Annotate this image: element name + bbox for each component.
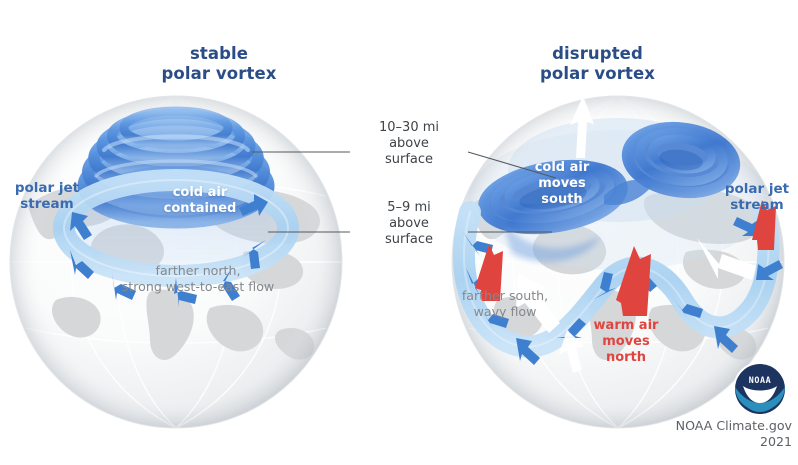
callout-troposphere-altitude: 5–9 mi above surface bbox=[352, 200, 466, 248]
label-warm-air-moves-north-line1: warm air bbox=[576, 318, 676, 334]
label-cold-air-moves-south-line1: cold air bbox=[512, 160, 612, 176]
label-cold-air-contained-line2: contained bbox=[141, 201, 259, 217]
label-flow-disrupted: farther south, wavy flow bbox=[444, 288, 566, 319]
label-cold-air-contained: cold air contained bbox=[141, 185, 259, 217]
label-warm-air-moves-north: warm air moves north bbox=[576, 318, 676, 366]
label-cold-air-contained-line1: cold air bbox=[141, 185, 259, 201]
panel-title-stable: stable polar vortex bbox=[104, 44, 334, 84]
label-flow-stable-line2: strong west-to-east flow bbox=[118, 279, 278, 295]
callout-stratosphere-line1: 10–30 mi bbox=[352, 120, 466, 136]
callout-stratosphere-altitude: 10–30 mi above surface bbox=[352, 120, 466, 168]
callout-troposphere-line1: 5–9 mi bbox=[352, 200, 466, 216]
label-flow-stable-line1: farther north, bbox=[118, 263, 278, 279]
panel-title-stable-line2: polar vortex bbox=[104, 64, 334, 84]
callout-troposphere-line2: above bbox=[352, 216, 466, 232]
label-polar-jet-stream-right-line2: stream bbox=[716, 197, 798, 213]
label-cold-air-moves-south-line2: moves bbox=[512, 176, 612, 192]
label-polar-jet-stream-left-line2: stream bbox=[2, 196, 92, 212]
panel-title-disrupted: disrupted polar vortex bbox=[470, 44, 725, 84]
label-cold-air-moves-south-line3: south bbox=[512, 192, 612, 208]
noaa-logo: NOAA bbox=[733, 362, 787, 416]
credit-year: 2021 bbox=[640, 434, 792, 450]
callout-stratosphere-line3: surface bbox=[352, 152, 466, 168]
credit-source: NOAA Climate.gov bbox=[640, 418, 792, 434]
label-flow-disrupted-line2: wavy flow bbox=[444, 304, 566, 320]
label-polar-jet-stream-right: polar jet stream bbox=[716, 181, 798, 213]
label-polar-jet-stream-right-line1: polar jet bbox=[716, 181, 798, 197]
label-warm-air-moves-north-line3: north bbox=[576, 350, 676, 366]
panel-title-stable-line1: stable bbox=[104, 44, 334, 64]
infographic-canvas: NOAA stable polar vortex disrupted polar… bbox=[0, 0, 798, 465]
panel-title-disrupted-line1: disrupted bbox=[470, 44, 725, 64]
label-cold-air-moves-south: cold air moves south bbox=[512, 160, 612, 208]
noaa-logo-text: NOAA bbox=[749, 375, 772, 385]
callout-stratosphere-line2: above bbox=[352, 136, 466, 152]
label-warm-air-moves-north-line2: moves bbox=[576, 334, 676, 350]
panel-title-disrupted-line2: polar vortex bbox=[470, 64, 725, 84]
label-flow-stable: farther north, strong west-to-east flow bbox=[118, 263, 278, 294]
credit-line: NOAA Climate.gov 2021 bbox=[640, 418, 792, 451]
label-polar-jet-stream-left: polar jet stream bbox=[2, 180, 92, 212]
label-polar-jet-stream-left-line1: polar jet bbox=[2, 180, 92, 196]
callout-troposphere-line3: surface bbox=[352, 232, 466, 248]
label-flow-disrupted-line1: farther south, bbox=[444, 288, 566, 304]
